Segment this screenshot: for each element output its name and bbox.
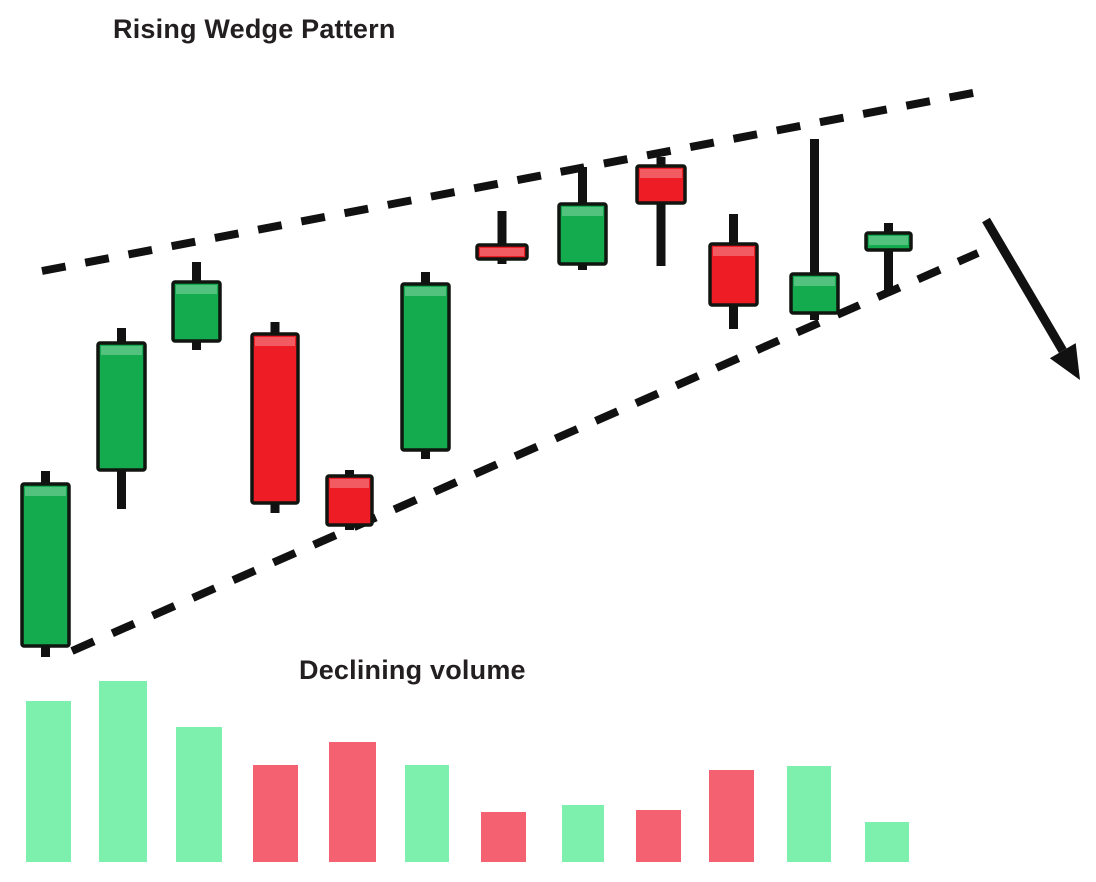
breakdown-arrow [986, 220, 1080, 380]
candle-body-highlight-6 [405, 287, 446, 296]
candlestick-9 [637, 157, 685, 266]
rising-wedge-chart: Rising Wedge Pattern Declining volume [0, 0, 1096, 882]
volume-bar-1 [26, 701, 71, 862]
candle-body-6 [402, 284, 449, 450]
candle-body-highlight-3 [176, 285, 217, 294]
volume-bar-12 [865, 822, 909, 862]
candlesticks-group [22, 139, 911, 657]
candle-body-highlight-2 [101, 346, 142, 355]
candlestick-2 [98, 328, 145, 509]
breakdown-arrow-shaft [986, 220, 1063, 351]
candle-body-4 [252, 334, 298, 503]
volume-bar-11 [787, 766, 831, 862]
candle-body-highlight-7 [480, 248, 524, 256]
candlestick-10 [710, 214, 757, 329]
volume-bar-10 [709, 770, 754, 862]
annotations-group [986, 220, 1080, 380]
volume-bar-2 [99, 681, 147, 862]
candle-body-highlight-10 [713, 247, 754, 256]
candle-body-highlight-11 [794, 277, 835, 286]
candlestick-6 [402, 272, 449, 459]
volume-bar-4 [253, 765, 298, 862]
candlestick-7 [477, 211, 527, 264]
candle-body-highlight-1 [25, 487, 66, 496]
candlestick-11 [791, 139, 838, 320]
candlestick-3 [173, 262, 220, 350]
trendlines-group [42, 92, 978, 651]
candle-body-highlight-12 [869, 236, 908, 245]
volume-bar-5 [329, 742, 376, 862]
volume-bar-6 [405, 765, 449, 862]
chart-plot-area [0, 0, 1096, 882]
volume-bar-7 [481, 812, 526, 862]
volume-bar-9 [636, 810, 681, 862]
candle-body-highlight-8 [562, 207, 603, 216]
candle-body-highlight-9 [640, 169, 682, 178]
candle-body-2 [98, 343, 145, 470]
candlestick-8 [559, 167, 606, 270]
candle-body-1 [22, 484, 69, 646]
volume-bar-3 [176, 727, 222, 862]
candlestick-1 [22, 471, 69, 657]
candlestick-4 [252, 322, 298, 513]
candlestick-5 [327, 470, 372, 530]
candle-body-highlight-5 [330, 479, 369, 488]
volume-bars-group [26, 681, 909, 862]
candle-body-highlight-4 [255, 337, 295, 346]
candlestick-12 [866, 223, 911, 294]
volume-bar-8 [562, 805, 604, 862]
